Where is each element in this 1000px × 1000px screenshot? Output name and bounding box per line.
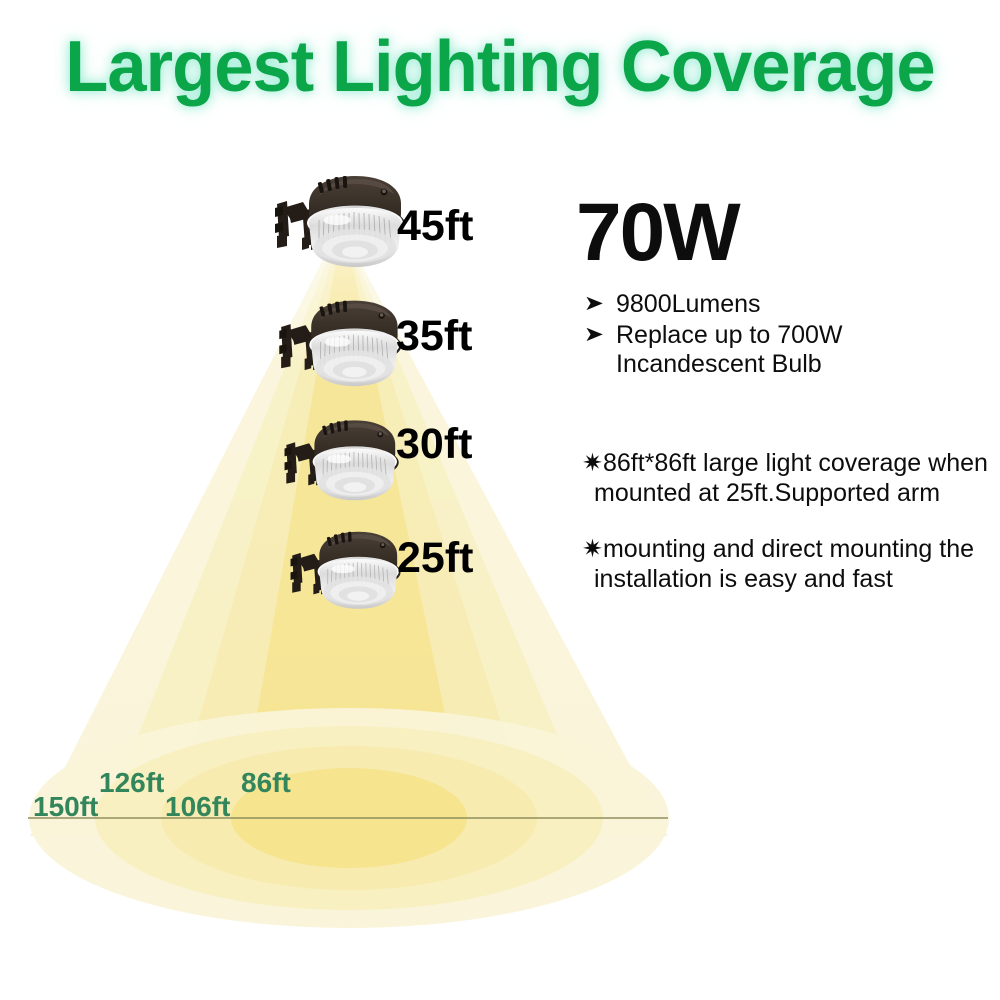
coverage-label-150ft: 150ft (33, 793, 98, 821)
spec-notes: ✷86ft*86ft large light coverage when mou… (582, 448, 992, 620)
arrow-bullet-icon: ➤ (584, 321, 619, 349)
height-label-25ft: 25ft (397, 537, 473, 580)
height-label-30ft: 30ft (396, 423, 472, 466)
list-item: ➤ 9800Lumens (586, 290, 986, 319)
coverage-label-106ft: 106ft (165, 793, 230, 821)
arrow-bullet-icon: ➤ (584, 290, 619, 318)
wattage-heading: 70W (576, 192, 739, 274)
infographic-canvas: Largest Lighting Coverage (0, 0, 1000, 1000)
lamp-fixture-35ft (268, 293, 407, 391)
lamp-fixture-30ft (274, 413, 404, 505)
spec-bullet-list: ➤ 9800Lumens ➤ Replace up to 700W Incand… (586, 290, 986, 381)
note-installation: ✷mounting and direct mounting the instal… (582, 534, 992, 594)
coverage-label-86ft: 86ft (241, 769, 291, 797)
lamp-fixture-45ft (263, 168, 411, 272)
coverage-label-126ft: 126ft (99, 769, 164, 797)
bullet-text: 9800Lumens (616, 290, 761, 319)
bullet-text: Replace up to 700W Incandescent Bulb (616, 321, 843, 379)
list-item: ➤ Replace up to 700W Incandescent Bulb (586, 321, 986, 379)
note-coverage: ✷86ft*86ft large light coverage when mou… (582, 448, 992, 508)
height-label-45ft: 45ft (397, 205, 473, 248)
lamp-fixture-25ft (280, 525, 406, 613)
page-title: Largest Lighting Coverage (10, 26, 990, 108)
height-label-35ft: 35ft (396, 315, 472, 358)
